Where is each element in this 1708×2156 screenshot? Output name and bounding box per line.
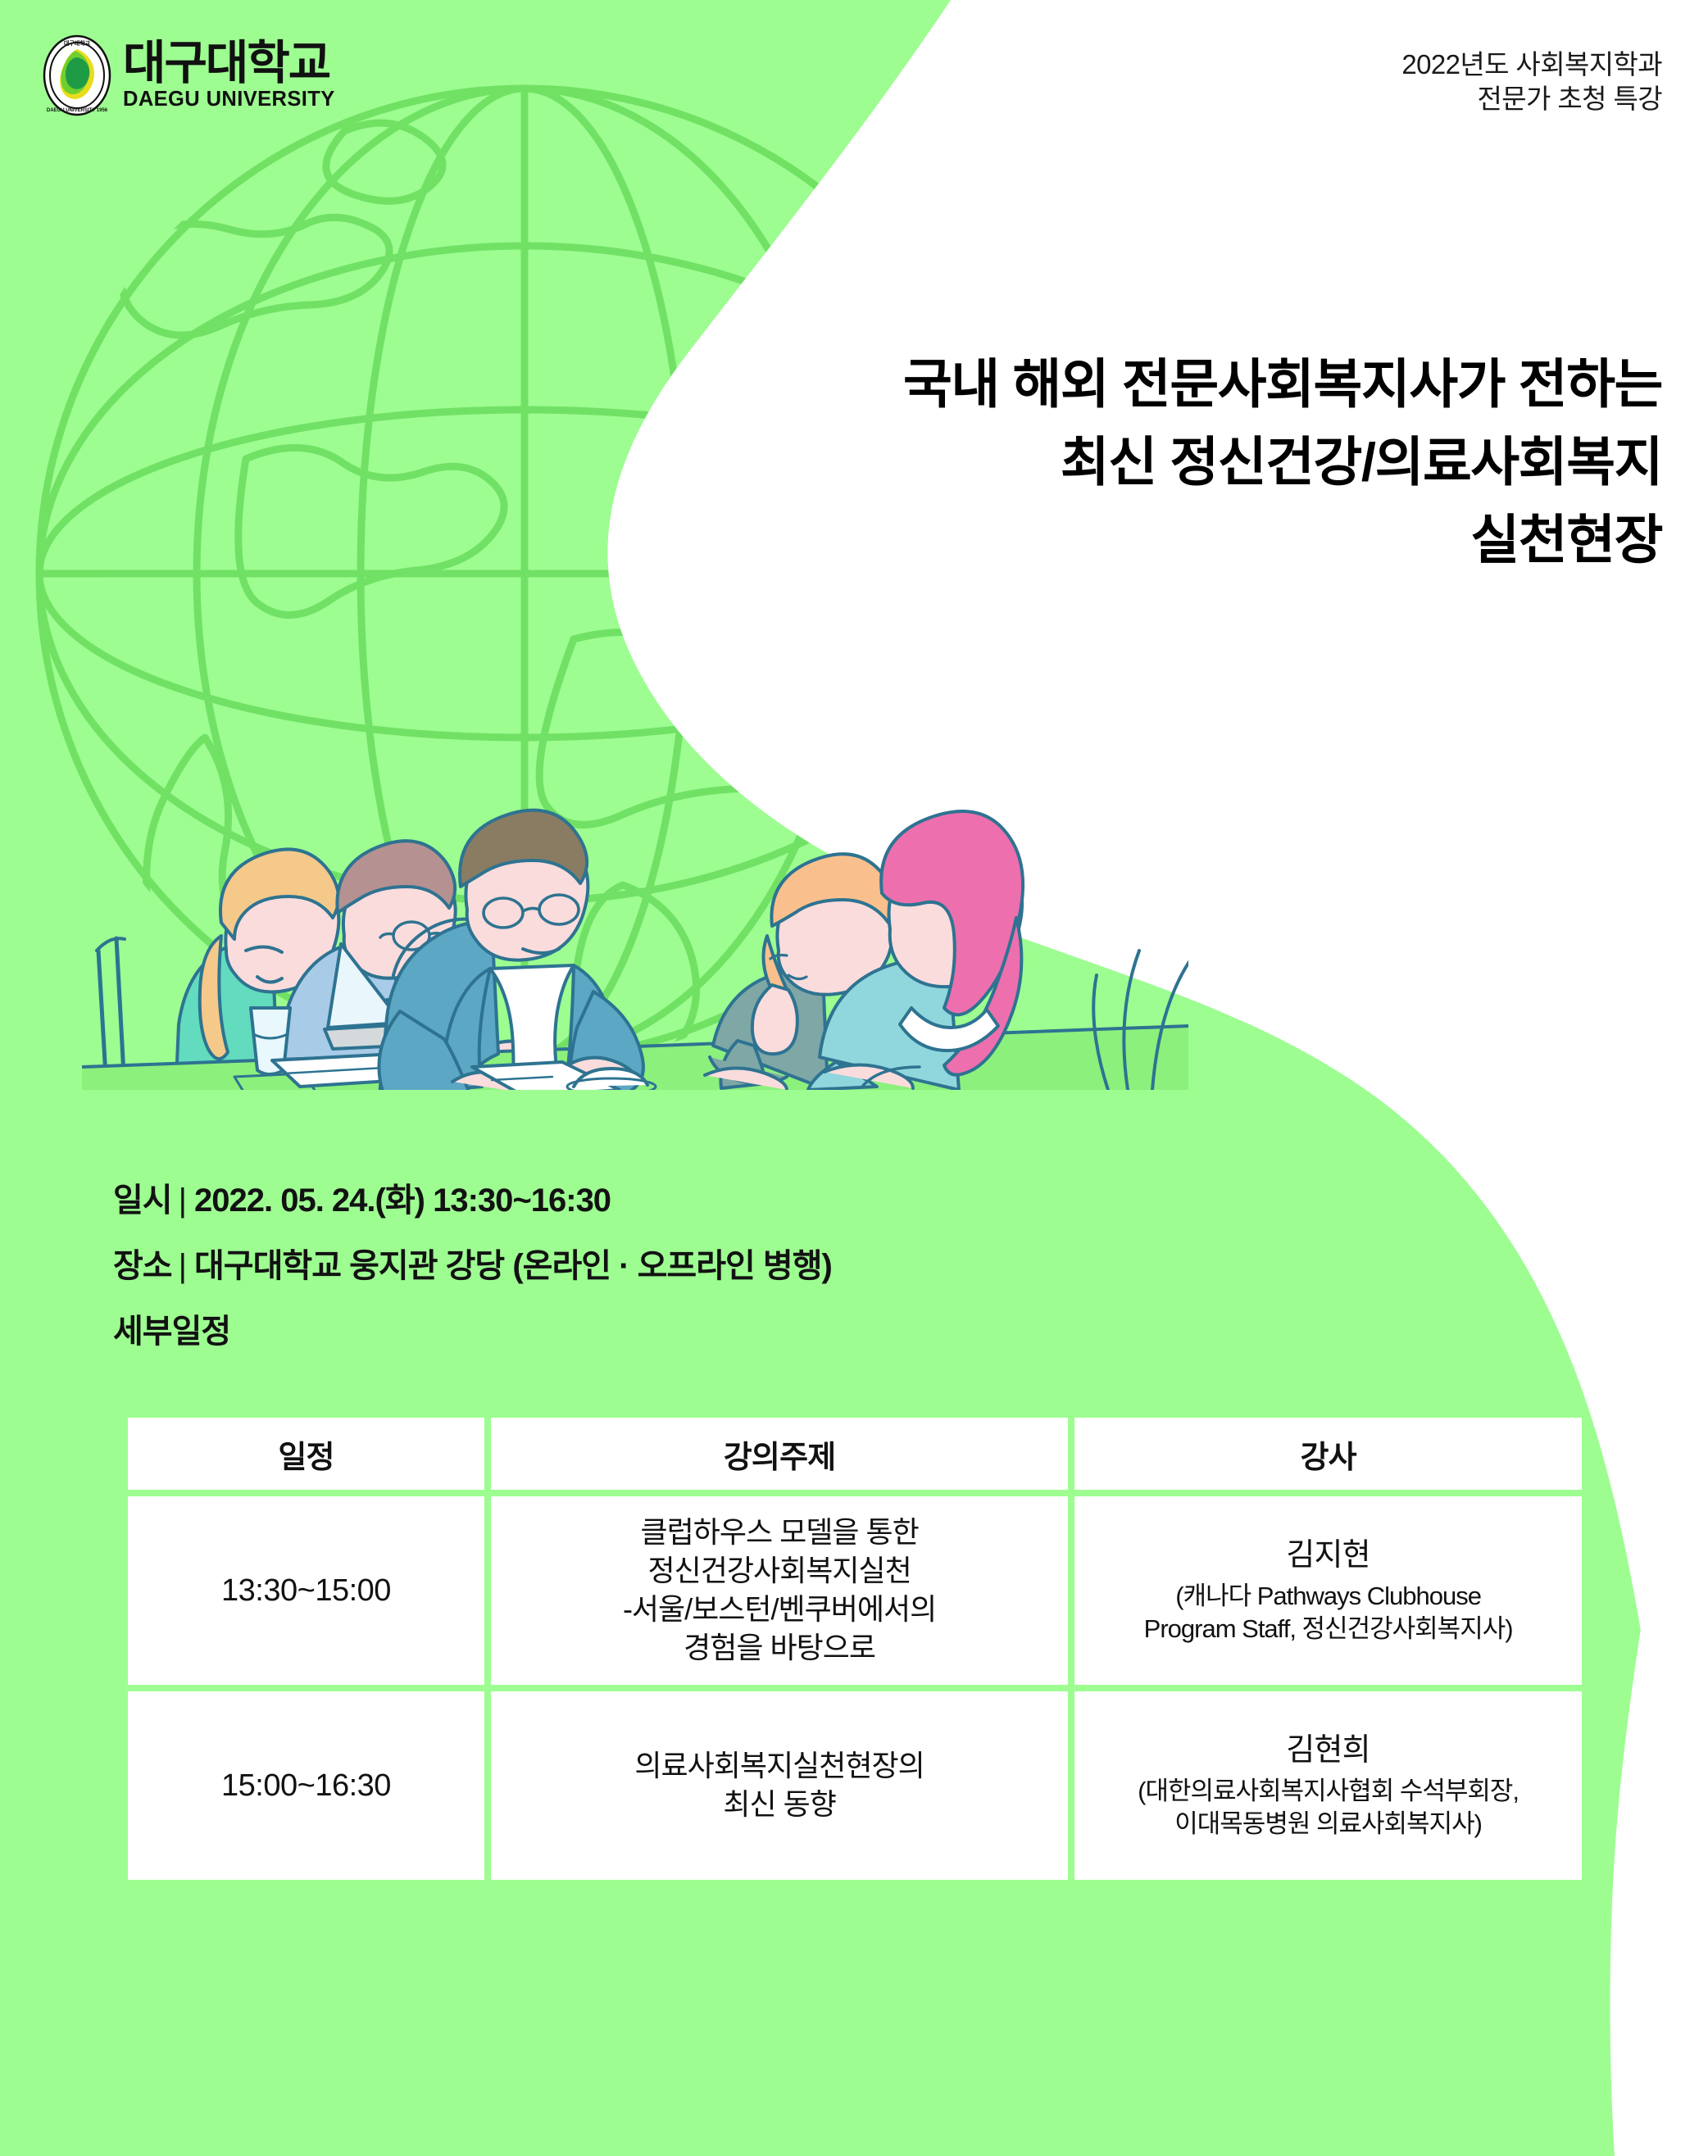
row1-affil-line-2: Program Staff, 정신건강사회복지사) <box>1084 1613 1572 1645</box>
table-header-topic: 강의주제 <box>491 1418 1068 1490</box>
title-line-2: 최신 정신건강/의료사회복지 <box>903 426 1662 497</box>
row2-lecturer-name: 김현희 <box>1084 1732 1572 1771</box>
row1-topic-line-3: -서울/보스턴/벤쿠버에서의 <box>501 1591 1058 1629</box>
row1-topic-line-4: 경험을 바탕으로 <box>501 1629 1058 1668</box>
title-line-3: 실천현장 <box>903 504 1662 575</box>
university-logo: 대구대학교 DAEGU UNIVERSITY 1956 대구대학교 DAEGU … <box>43 34 335 116</box>
table-header-lecturer: 강사 <box>1074 1418 1582 1490</box>
logo-english-name: DAEGU UNIVERSITY <box>123 89 335 111</box>
row1-lecturer-name: 김지현 <box>1084 1536 1572 1576</box>
row1-time: 13:30~15:00 <box>128 1496 484 1685</box>
info-schedule-heading: 세부일정 <box>113 1313 832 1350</box>
logo-korean-name: 대구대학교 <box>123 40 335 87</box>
table-header-row: 일정 강의주제 강사 <box>128 1418 1582 1490</box>
row2-affil-line-2: 이대목동병원 의료사회복지사) <box>1084 1808 1572 1841</box>
info-date-label: 일시 <box>113 1182 172 1219</box>
row2-time: 15:00~16:30 <box>128 1691 484 1880</box>
info-place-label: 장소 <box>113 1248 172 1284</box>
info-date-value: 2022. 05. 24.(화) 13:30~16:30 <box>194 1182 611 1219</box>
row2-affil-line-1: (대한의료사회복지사협회 수석부회장, <box>1084 1775 1572 1808</box>
row1-lecturer-affiliation: (캐나다 Pathways Clubhouse Program Staff, 정… <box>1084 1580 1572 1645</box>
title-line-1: 국내 해외 전문사회복지사가 전하는 <box>903 348 1662 420</box>
info-date-separator: | <box>179 1182 186 1219</box>
svg-text:DAEGU UNIVERSITY 1956: DAEGU UNIVERSITY 1956 <box>47 108 108 113</box>
row2-topic: 의료사회복지실천현장의 최신 동향 <box>491 1691 1068 1880</box>
row1-affil-line-1: (캐나다 Pathways Clubhouse <box>1084 1580 1572 1613</box>
header-eyebrow: 2022년도 사회복지학과 전문가 초청 특강 <box>1401 48 1662 116</box>
row1-topic-line-1: 클럽하우스 모델을 통한 <box>501 1514 1058 1552</box>
info-place: 장소|대구대학교 웅지관 강당 (온라인 · 오프라인 병행) <box>113 1247 832 1285</box>
daegu-university-emblem-icon: 대구대학교 DAEGU UNIVERSITY 1956 <box>43 34 111 116</box>
svg-text:대구대학교: 대구대학교 <box>64 39 91 47</box>
poster-title: 국내 해외 전문사회복지사가 전하는 최신 정신건강/의료사회복지 실천현장 <box>903 348 1662 582</box>
row1-topic-line-2: 정신건강사회복지실천 <box>501 1552 1058 1591</box>
info-place-value: 대구대학교 웅지관 강당 (온라인 · 오프라인 병행) <box>194 1248 832 1284</box>
info-date: 일시|2022. 05. 24.(화) 13:30~16:30 <box>113 1182 832 1219</box>
table-header-schedule: 일정 <box>128 1418 484 1490</box>
eyebrow-line-1: 2022년도 사회복지학과 <box>1401 48 1662 82</box>
poster-root: 대구대학교 DAEGU UNIVERSITY 1956 대구대학교 DAEGU … <box>0 0 1708 2156</box>
info-place-separator: | <box>179 1248 186 1284</box>
row1-topic: 클럽하우스 모델을 통한 정신건강사회복지실천 -서울/보스턴/벤쿠버에서의 경… <box>491 1496 1068 1685</box>
row2-topic-line-2: 최신 동향 <box>501 1786 1058 1824</box>
event-info: 일시|2022. 05. 24.(화) 13:30~16:30 장소|대구대학교… <box>113 1182 832 1350</box>
table-row: 15:00~16:30 의료사회복지실천현장의 최신 동향 김현희 (대한의료사… <box>128 1691 1582 1880</box>
table-row: 13:30~15:00 클럽하우스 모델을 통한 정신건강사회복지실천 -서울/… <box>128 1496 1582 1685</box>
eyebrow-line-2: 전문가 초청 특강 <box>1401 82 1662 116</box>
schedule-table: 일정 강의주제 강사 13:30~15:00 클럽하우스 모델을 통한 정신건강… <box>121 1411 1588 1886</box>
row2-topic-line-1: 의료사회복지실천현장의 <box>501 1747 1058 1786</box>
row2-lecturer: 김현희 (대한의료사회복지사협회 수석부회장, 이대목동병원 의료사회복지사) <box>1074 1691 1582 1880</box>
row1-lecturer: 김지현 (캐나다 Pathways Clubhouse Program Staf… <box>1074 1496 1582 1685</box>
row2-lecturer-affiliation: (대한의료사회복지사협회 수석부회장, 이대목동병원 의료사회복지사) <box>1084 1775 1572 1840</box>
meeting-illustration <box>82 565 1188 1090</box>
